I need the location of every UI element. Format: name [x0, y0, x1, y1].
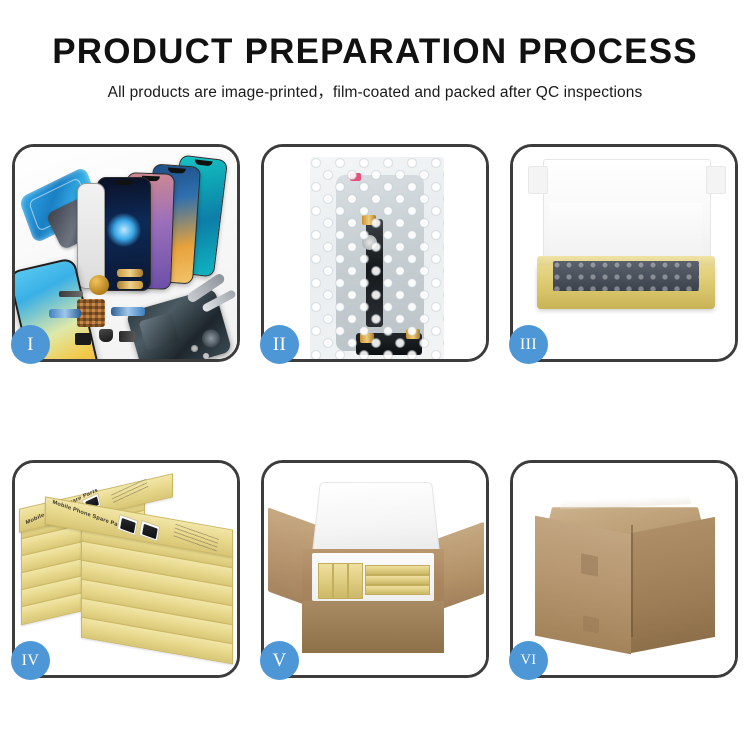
carton-left-face: [535, 516, 631, 655]
part-screw-2: [203, 353, 209, 359]
step-badge-1: I: [11, 325, 50, 364]
carton-corner-seam: [631, 525, 633, 637]
step-6-image: [513, 463, 735, 675]
step-badge-4: IV: [11, 641, 50, 680]
part-flex-cable-3: [117, 269, 143, 277]
part-logic-board: [77, 299, 105, 327]
foam-lid: [312, 482, 441, 557]
inner-box-3: [348, 563, 363, 599]
inner-box-lay-2: [365, 575, 430, 585]
step-badge-2: II: [260, 325, 299, 364]
carton-right-face: [631, 517, 715, 653]
process-step-3: III: [510, 144, 738, 362]
foam-liner: [312, 553, 434, 601]
carton-mark-lower: [583, 615, 599, 633]
process-step-grid: I II: [12, 144, 738, 678]
phone-glass-panel: [77, 183, 105, 289]
carton-mark-upper: [581, 553, 598, 576]
part-screw-1: [191, 345, 198, 352]
step-badge-5: V: [260, 641, 299, 680]
phone-fan-group: [77, 153, 237, 283]
step-3-image: [513, 147, 735, 359]
step-1-image: [15, 147, 237, 359]
bubble-wrapped-contents: [553, 261, 699, 291]
part-taptic-engine: [119, 331, 135, 342]
process-step-4: Mobile Phone Spare Parts Mobile Phone Sp…: [12, 460, 240, 678]
bubble-texture: [310, 157, 444, 359]
part-flex-cable-2: [111, 307, 145, 316]
inner-box-lay-1: [365, 565, 430, 575]
yellow-box-tray: [537, 265, 715, 309]
page-header: PRODUCT PREPARATION PROCESS All products…: [0, 0, 750, 102]
step-2-image: [264, 147, 486, 359]
part-chip: [75, 333, 91, 345]
step-4-image: Mobile Phone Spare Parts Mobile Phone Sp…: [15, 463, 237, 675]
part-wireless-coil: [89, 275, 109, 295]
step-badge-6: VI: [509, 641, 548, 680]
inner-box-2: [333, 563, 348, 599]
step-5-image: [264, 463, 486, 675]
page-title: PRODUCT PREPARATION PROCESS: [0, 34, 750, 71]
process-step-2: II: [261, 144, 489, 362]
inner-box-1: [318, 563, 333, 599]
bubble-wrap-bag: [310, 157, 444, 359]
master-carton-open: [302, 549, 444, 653]
page-subtitle: All products are image-printed，film-coat…: [0, 80, 750, 102]
process-step-6: VI: [510, 460, 738, 678]
process-step-5: V: [261, 460, 489, 678]
part-flex-cable-1: [49, 309, 81, 318]
inner-box-lay-3: [365, 585, 430, 595]
part-speaker: [99, 329, 113, 342]
step-badge-3: III: [509, 325, 548, 364]
carton-front-face: [302, 601, 444, 653]
part-earpiece-mesh: [59, 291, 83, 297]
part-flex-cable-4: [117, 281, 143, 289]
process-step-1: I: [12, 144, 240, 362]
